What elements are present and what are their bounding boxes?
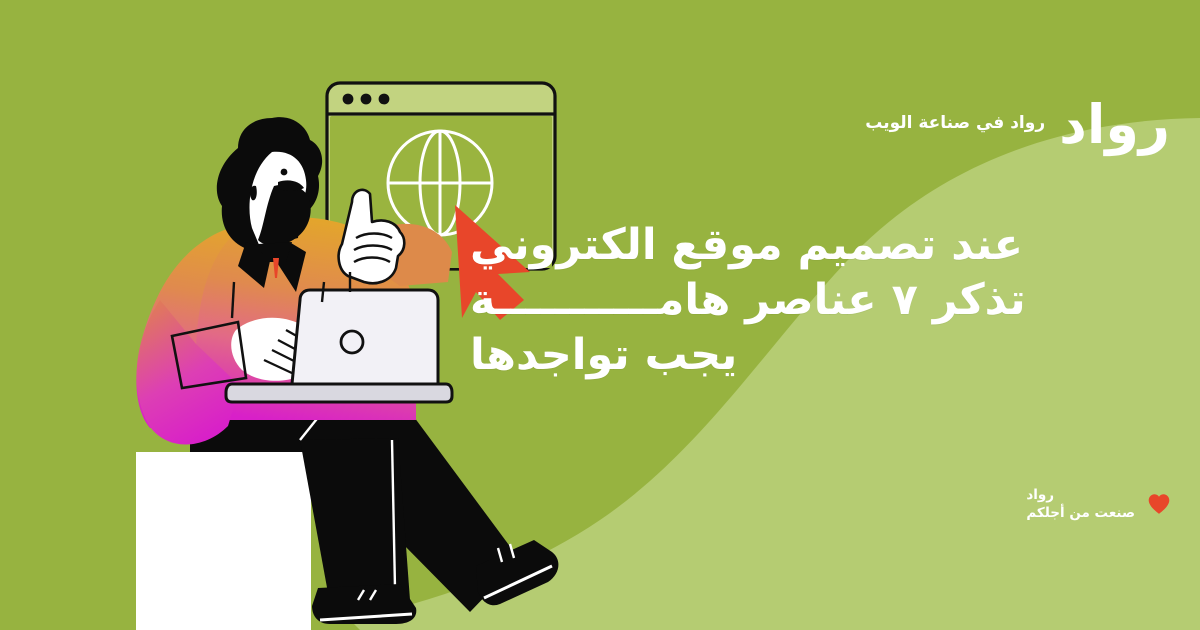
brand-block: رواد رواد في صناعة الويب: [865, 98, 1170, 152]
poster-canvas: رواد رواد في صناعة الويب عند تصميم موقع …: [0, 0, 1200, 630]
headline-line-1: عند تصميم موقع الكتروني: [470, 218, 1170, 273]
brand-tagline: رواد في صناعة الويب: [865, 115, 1045, 136]
page-title: عند تصميم موقع الكتروني تذكر ٧ عناصر هام…: [470, 218, 1170, 383]
headline-line-3: يجب تواجدها: [470, 328, 1170, 383]
footer-line-2: صنعت من أجلكم: [1026, 504, 1135, 522]
headline-line-2: تذكر ٧ عناصر هامـــــــــــة: [470, 273, 1170, 328]
footer-text: رواد صنعت من أجلكم: [1026, 486, 1135, 522]
footer-line-1: رواد: [1026, 486, 1135, 504]
brand-logo: رواد: [1059, 98, 1170, 152]
heart-icon: [1146, 491, 1172, 517]
footer-mark: رواد صنعت من أجلكم: [1026, 486, 1172, 522]
